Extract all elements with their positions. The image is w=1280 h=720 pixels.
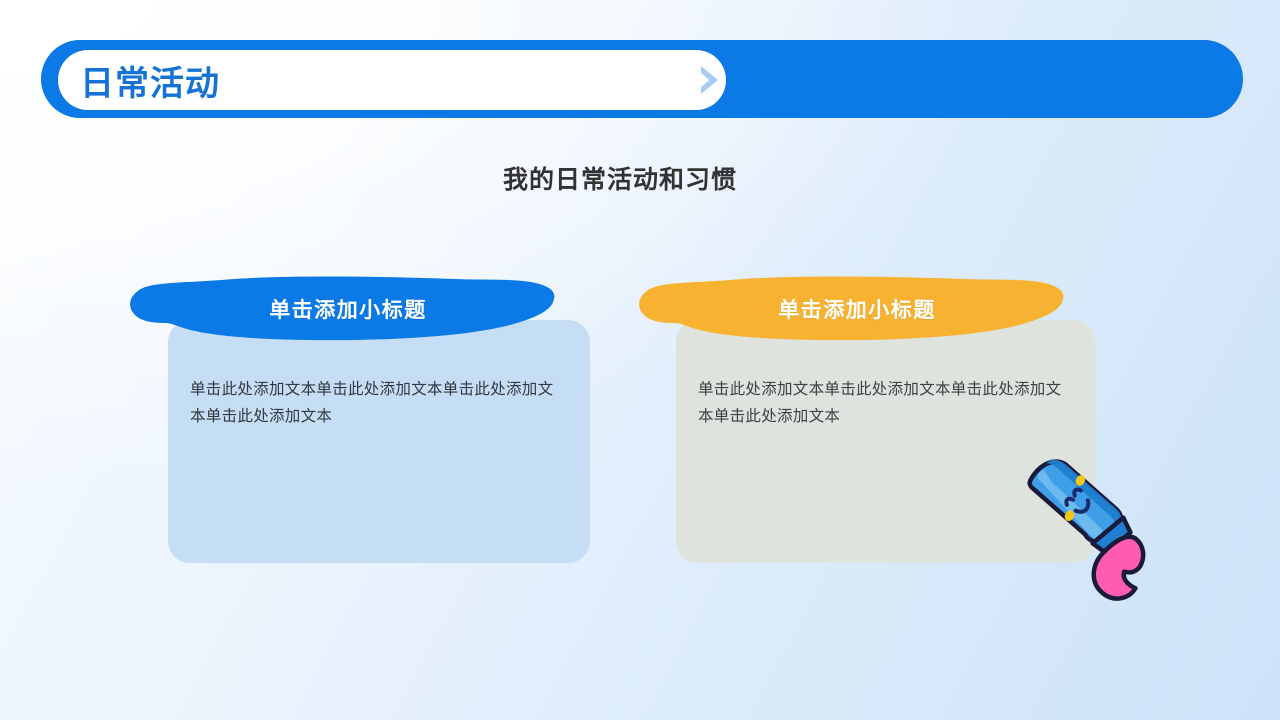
section-subtitle: 我的日常活动和习惯 — [0, 160, 1240, 196]
page-title: 日常活动 — [80, 50, 220, 110]
paintbrush-icon — [1003, 437, 1163, 577]
card-body-text-right: 单击此处添加文本单击此处添加文本单击此处添加文本单击此处添加文本 — [698, 376, 1067, 430]
slide-canvas: 日常活动 我的日常活动和习惯 单击此处添加文本单击此处添加文本单击此处添加文本单… — [0, 0, 1280, 720]
card-heading-blob-right[interactable]: 单击添加小标题 — [634, 277, 1066, 341]
card-heading-blob-left[interactable]: 单击添加小标题 — [125, 277, 557, 341]
chevron-right-icon[interactable] — [688, 58, 732, 102]
card-body-text-left: 单击此处添加文本单击此处添加文本单击此处添加文本单击此处添加文本 — [190, 376, 562, 430]
content-card-left[interactable]: 单击此处添加文本单击此处添加文本单击此处添加文本单击此处添加文本 — [168, 320, 590, 563]
